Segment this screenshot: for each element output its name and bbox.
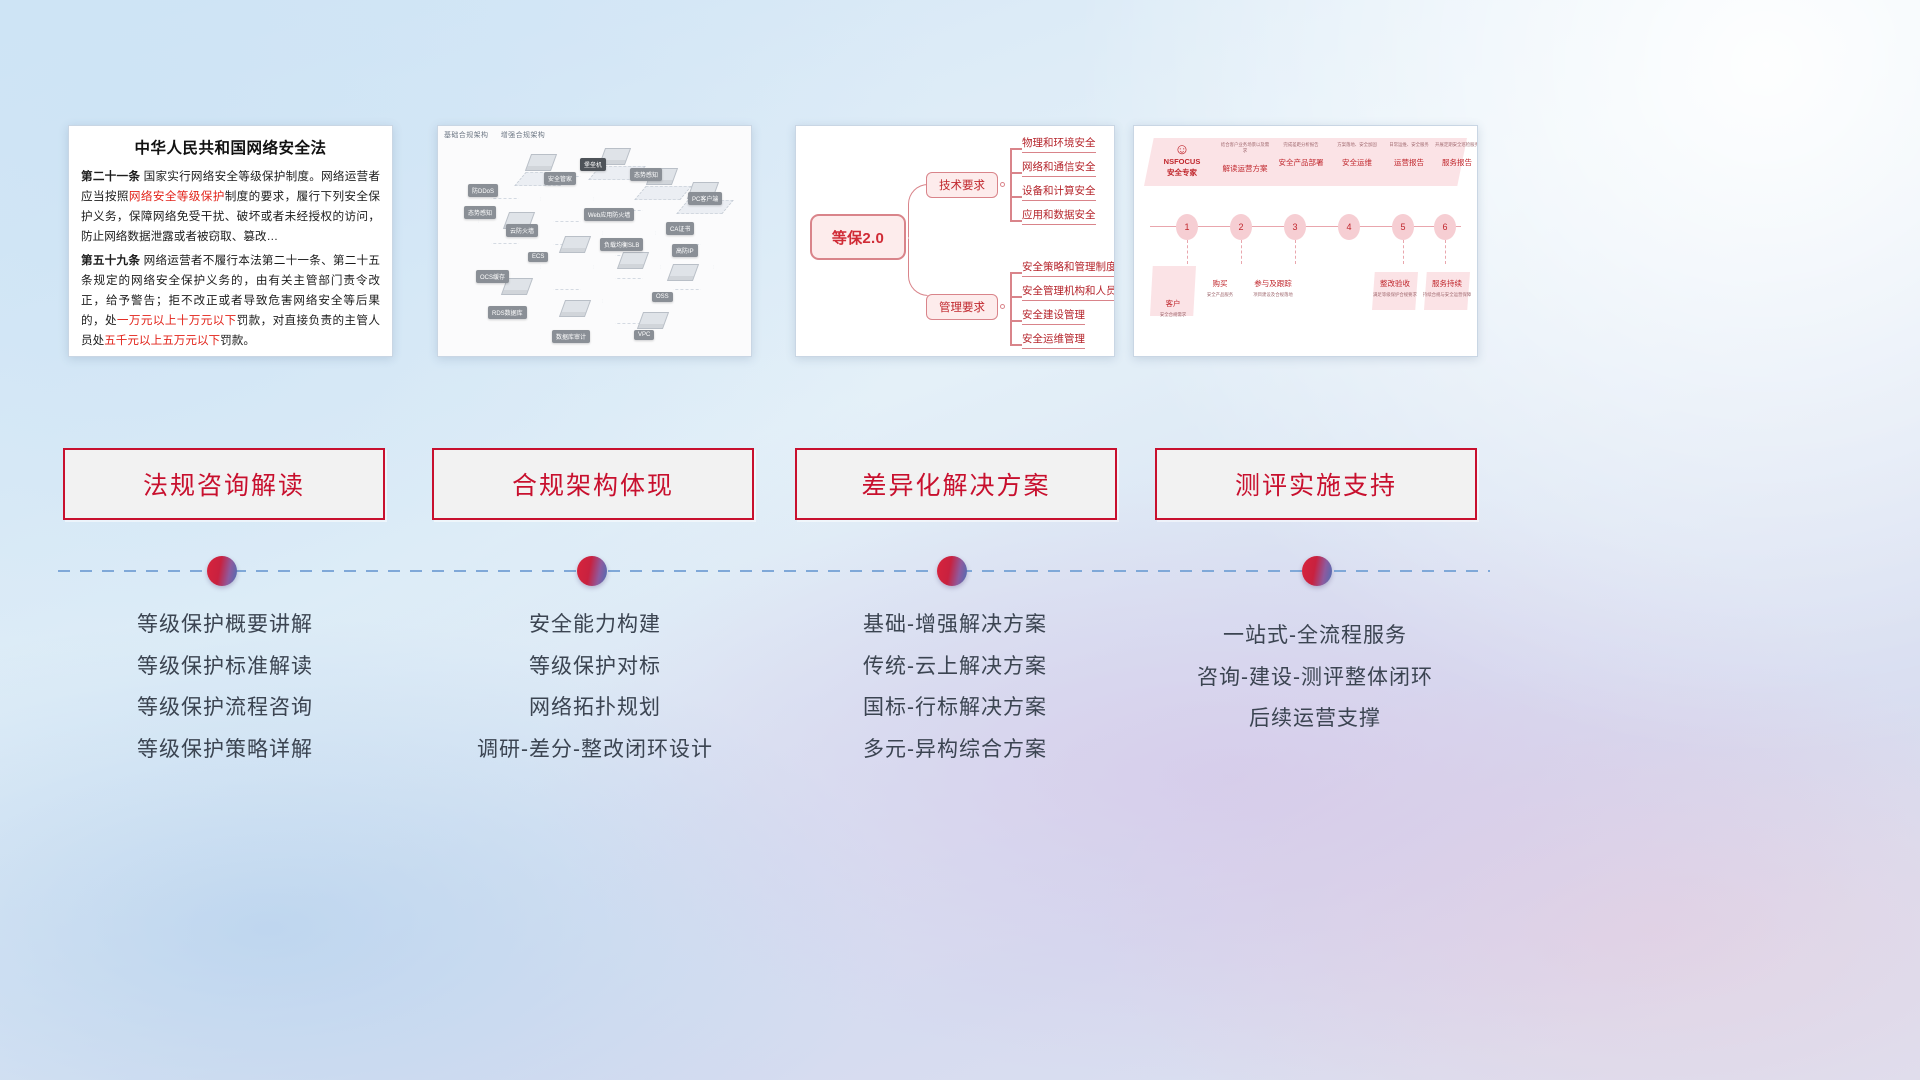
list-item: 等级保护标准解读 <box>60 646 390 688</box>
architecture-node-2: 安全管家 <box>544 172 576 185</box>
mindmap-root-node: 等保2.0 <box>810 214 906 260</box>
feature-column-2: 安全能力构建 等级保护对标 网络拓扑规划 调研-差分-整改闭环设计 <box>430 604 760 770</box>
mindmap-tick-t3 <box>1010 196 1022 198</box>
nsfocus-top-item-1-sub: 结合客户业务场景以及需求 <box>1220 142 1270 154</box>
nsfocus-connector-5 <box>1445 240 1446 264</box>
mindmap-branch-management: 管理要求 <box>926 294 998 320</box>
nsfocus-top-item-2-sub: 完成差距分析报告 <box>1276 142 1326 148</box>
mindmap-tick-m2 <box>1010 296 1022 298</box>
mindmap-branch-technical: 技术要求 <box>926 172 998 198</box>
list-item: 等级保护对标 <box>430 646 760 688</box>
nsfocus-top-item-3-sub: 方案落地、安全加固 <box>1332 142 1382 148</box>
mindmap-spine-management <box>1010 272 1012 344</box>
nsfocus-connector-3 <box>1295 240 1296 264</box>
list-item: 网络拓扑规划 <box>430 687 760 729</box>
expert-person-icon: ☺ <box>1154 142 1210 157</box>
mindmap-tick-t1 <box>1010 148 1022 150</box>
card-compliance-architecture[interactable]: 基础合规架构 增强合规架构 <box>437 125 752 357</box>
architecture-node-7: Web应用防火墙 <box>584 208 634 221</box>
architecture-node-4: 态势感知 <box>630 168 662 181</box>
list-item: 多元-异构综合方案 <box>790 729 1120 771</box>
list-item: 基础-增强解决方案 <box>790 604 1120 646</box>
list-item: 等级保护流程咨询 <box>60 687 390 729</box>
feature-column-1: 等级保护概要讲解 等级保护标准解读 等级保护流程咨询 等级保护策略详解 <box>60 604 390 770</box>
law-article-59-highlight-1: 一万元以上十万元以下 <box>117 314 237 327</box>
nsfocus-bottom-item-1-main: 客户 <box>1166 299 1181 308</box>
mindmap-leaf-m4: 安全运维管理 <box>1022 331 1085 349</box>
nsfocus-top-item-3: 方案落地、安全加固 安全运维 <box>1332 142 1382 168</box>
architecture-diagram: 基础合规架构 增强合规架构 <box>438 126 751 356</box>
mindmap-tick-m4 <box>1010 344 1022 346</box>
architecture-canvas: 堡垒机 防DDoS 安全管家 态势感知 态势感知 PC客户端 云防火墙 Web应… <box>444 140 745 350</box>
architecture-header-left: 基础合规架构 <box>444 132 488 139</box>
nsfocus-top-item-4-sub: 日常运维、安全服务 <box>1384 142 1434 148</box>
banner-compliance-architecture[interactable]: 合规架构体现 <box>432 448 754 520</box>
nsfocus-brand-line2: 安全专家 <box>1167 168 1197 177</box>
architecture-cube-1 <box>525 154 557 171</box>
mindmap-leaf-t2: 网络和通信安全 <box>1022 159 1096 177</box>
law-article-21: 第二十一条 国家实行网络安全等级保护制度。网络运营者应当按照网络安全等级保护制度… <box>81 167 380 247</box>
timeline-node-4[interactable] <box>1302 556 1332 586</box>
nsfocus-connector-1 <box>1187 240 1188 264</box>
nsfocus-bottom-item-5: 服务持续 持续合规与安全运营保障 <box>1422 278 1472 298</box>
nsfocus-bottom-item-4: 整改验收 满足等级保护合规要求 <box>1370 278 1420 298</box>
architecture-cube-9 <box>559 300 591 317</box>
law-article-59-highlight-2: 五千元以上五万元以下 <box>104 334 220 347</box>
architecture-plate-3 <box>634 186 691 200</box>
timeline-dashed-line <box>58 570 1490 572</box>
architecture-cube-7 <box>617 252 649 269</box>
nsfocus-bottom-item-1-sub: 安全合规需求 <box>1148 312 1198 318</box>
card-mindmap-dengbao[interactable]: 等保2.0 技术要求 管理要求 物理和环境安全 网络和通信安全 设备和计算安全 … <box>795 125 1115 357</box>
mindmap-dot-technical <box>1000 182 1005 187</box>
nsfocus-bottom-item-4-sub: 满足等级保护合规要求 <box>1370 292 1420 298</box>
card-cybersecurity-law[interactable]: 中华人民共和国网络安全法 第二十一条 国家实行网络安全等级保护制度。网络运营者应… <box>68 125 393 357</box>
preview-cards-row: 中华人民共和国网络安全法 第二十一条 国家实行网络安全等级保护制度。网络运营者应… <box>0 125 1920 363</box>
nsfocus-step-2: 2 <box>1230 214 1252 240</box>
nsfocus-step-1: 1 <box>1176 214 1198 240</box>
mindmap-leaf-t3: 设备和计算安全 <box>1022 183 1096 201</box>
timeline-node-3[interactable] <box>937 556 967 586</box>
architecture-node-15: VPC <box>634 330 654 340</box>
mindmap-diagram: 等保2.0 技术要求 管理要求 物理和环境安全 网络和通信安全 设备和计算安全 … <box>796 126 1114 356</box>
list-item: 传统-云上解决方案 <box>790 646 1120 688</box>
banner-regulation-consulting-label: 法规咨询解读 <box>143 466 305 502</box>
nsfocus-step-4: 4 <box>1338 214 1360 240</box>
mindmap-tick-t2 <box>1010 172 1022 174</box>
list-item: 安全能力构建 <box>430 604 760 646</box>
nsfocus-bottom-item-5-sub: 持续合规与安全运营保障 <box>1422 292 1472 298</box>
mindmap-leaf-m3: 安全建设管理 <box>1022 307 1085 325</box>
architecture-node-8: 负载均衡SLB <box>600 238 643 251</box>
timeline-node-2[interactable] <box>577 556 607 586</box>
architecture-node-16: 数据库审计 <box>552 330 590 343</box>
list-item: 国标-行标解决方案 <box>790 687 1120 729</box>
mindmap-dot-management <box>1000 304 1005 309</box>
mindmap-curve-top <box>908 184 928 238</box>
feature-column-4: 一站式-全流程服务 咨询-建设-测评整体闭环 后续运营支撑 <box>1150 604 1480 740</box>
mindmap-tick-m3 <box>1010 320 1022 322</box>
nsfocus-connector-2 <box>1241 240 1242 264</box>
architecture-node-3: 态势感知 <box>464 206 496 219</box>
list-item: 等级保护概要讲解 <box>60 604 390 646</box>
nsfocus-top-item-1: 结合客户业务场景以及需求 解读运营方案 <box>1220 142 1270 174</box>
nsfocus-top-item-1-main: 解读运营方案 <box>1220 163 1270 174</box>
list-item: 咨询-建设-测评整体闭环 <box>1150 657 1480 699</box>
nsfocus-top-item-2: 完成差距分析报告 安全产品部署 <box>1276 142 1326 168</box>
timeline <box>0 553 1920 589</box>
law-title: 中华人民共和国网络安全法 <box>81 136 380 158</box>
list-item: 等级保护策略详解 <box>60 729 390 771</box>
mindmap-leaf-m2: 安全管理机构和人员 <box>1022 283 1115 301</box>
architecture-node-10: CA证书 <box>666 222 694 235</box>
banner-differentiated-solution-label: 差异化解决方案 <box>861 466 1050 502</box>
law-article-59-text-c: 罚款。 <box>220 334 255 347</box>
nsfocus-step-3: 3 <box>1284 214 1306 240</box>
nsfocus-connector-4 <box>1403 240 1404 264</box>
nsfocus-bottom-item-2-main: 购买 <box>1213 279 1228 288</box>
card-nsfocus-service-flow[interactable]: ☺ NSFOCUS 安全专家 结合客户业务场景以及需求 解读运营方案 完成差距分… <box>1133 125 1478 357</box>
law-document: 中华人民共和国网络安全法 第二十一条 国家实行网络安全等级保护制度。网络运营者应… <box>69 126 392 357</box>
timeline-node-1[interactable] <box>207 556 237 586</box>
nsfocus-top-item-5-main: 服务报告 <box>1432 157 1478 168</box>
law-article-21-highlight: 网络安全等级保护 <box>129 190 225 203</box>
banner-compliance-architecture-label: 合规架构体现 <box>512 466 674 502</box>
nsfocus-bottom-item-2-sub: 安全产品服务 <box>1200 292 1240 298</box>
banner-evaluation-support[interactable]: 测评实施支持 <box>1155 448 1477 520</box>
mindmap-curve-bottom <box>908 238 928 296</box>
architecture-cube-6 <box>559 236 591 253</box>
nsfocus-top-item-4: 日常运维、安全服务 运营报告 <box>1384 142 1434 168</box>
nsfocus-top-item-5-sub: 开展定期安全巡检服务 <box>1432 142 1478 148</box>
nsfocus-top-item-5: 开展定期安全巡检服务 服务报告 <box>1432 142 1478 168</box>
mindmap-leaf-t1: 物理和环境安全 <box>1022 135 1096 153</box>
list-item: 一站式-全流程服务 <box>1150 615 1480 657</box>
list-item: 后续运营支撑 <box>1150 698 1480 740</box>
nsfocus-bottom-item-2: 购买 安全产品服务 <box>1200 278 1240 298</box>
architecture-node-5: PC客户端 <box>688 192 722 205</box>
mindmap-leaf-t4: 应用和数据安全 <box>1022 207 1096 225</box>
list-item: 调研-差分-整改闭环设计 <box>430 729 760 771</box>
architecture-node-6: 云防火墙 <box>506 224 538 237</box>
architecture-node-0: 堡垒机 <box>580 158 606 171</box>
law-article-59: 第五十九条 网络运营者不履行本法第二十一条、第二十五条规定的网络安全保护义务的，… <box>81 251 380 351</box>
law-article-21-label: 第二十一条 <box>81 170 140 183</box>
architecture-header-right: 增强合规架构 <box>501 132 545 139</box>
feature-column-3: 基础-增强解决方案 传统-云上解决方案 国标-行标解决方案 多元-异构综合方案 <box>790 604 1120 770</box>
nsfocus-top-item-3-main: 安全运维 <box>1332 157 1382 168</box>
mindmap-tick-t4 <box>1010 220 1022 222</box>
architecture-cube-11 <box>637 312 669 329</box>
nsfocus-expert-badge: ☺ NSFOCUS 安全专家 <box>1154 142 1210 179</box>
architecture-node-14: OSS <box>652 292 673 302</box>
architecture-node-13: RDS数据库 <box>488 306 527 319</box>
architecture-node-1: 防DDoS <box>468 184 498 197</box>
nsfocus-step-6: 6 <box>1434 214 1456 240</box>
nsfocus-bottom-item-4-main: 整改验收 <box>1380 279 1410 288</box>
nsfocus-step-5: 5 <box>1392 214 1414 240</box>
nsfocus-top-item-2-main: 安全产品部署 <box>1276 157 1326 168</box>
banner-evaluation-support-label: 测评实施支持 <box>1235 466 1397 502</box>
architecture-node-11: 高防IP <box>672 244 698 257</box>
mindmap-leaf-m1: 安全策略和管理制度 <box>1022 259 1115 277</box>
banner-regulation-consulting[interactable]: 法规咨询解读 <box>63 448 385 520</box>
mindmap-tick-m1 <box>1010 272 1022 274</box>
nsfocus-bottom-item-1: 客户 安全合规需求 <box>1148 298 1198 318</box>
nsfocus-bottom-item-3-main: 参与及跟踪 <box>1254 279 1292 288</box>
nsfocus-bottom-item-5-main: 服务持续 <box>1432 279 1462 288</box>
architecture-node-12: OCS缓存 <box>476 270 509 283</box>
law-article-59-label: 第五十九条 <box>81 254 140 267</box>
nsfocus-brand-line1: NSFOCUS <box>1164 157 1201 166</box>
banner-differentiated-solution[interactable]: 差异化解决方案 <box>795 448 1117 520</box>
nsfocus-bottom-item-3: 参与及跟踪 项目建设及合规落地 <box>1242 278 1304 298</box>
banner-row: 法规咨询解读 合规架构体现 差异化解决方案 测评实施支持 <box>0 448 1920 522</box>
nsfocus-bottom-item-3-sub: 项目建设及合规落地 <box>1242 292 1304 298</box>
architecture-header: 基础合规架构 增强合规架构 <box>444 130 555 140</box>
mindmap-spine-technical <box>1010 148 1012 220</box>
nsfocus-top-item-4-main: 运营报告 <box>1384 157 1434 168</box>
nsfocus-diagram: ☺ NSFOCUS 安全专家 结合客户业务场景以及需求 解读运营方案 完成差距分… <box>1134 126 1477 356</box>
architecture-node-9: ECS <box>528 252 548 262</box>
